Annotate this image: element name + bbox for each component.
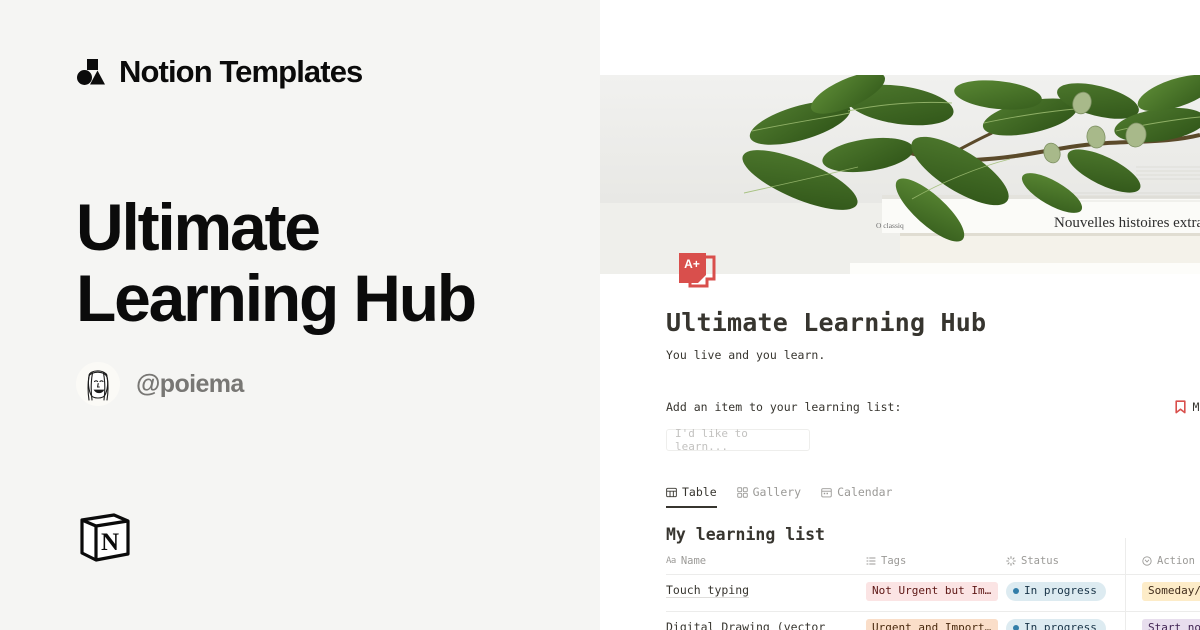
- status-badge-label: In progress: [1024, 621, 1097, 630]
- left-info-panel: Notion Templates Ultimate Learning Hub: [0, 0, 600, 630]
- tab-gallery[interactable]: Gallery: [737, 485, 801, 508]
- bookmark-icon: [1175, 400, 1186, 414]
- cell-name[interactable]: Touch typing: [666, 575, 866, 612]
- cell-tags[interactable]: Not Urgent but Imp…: [866, 575, 1006, 612]
- notion-cube-logo-icon: N: [76, 508, 134, 566]
- select-icon: [1142, 556, 1152, 566]
- svg-text:Nouvelles histoires extra: Nouvelles histoires extra: [1054, 215, 1200, 231]
- table-row[interactable]: Touch typing Not Urgent but Imp… In prog…: [666, 575, 1200, 612]
- page-title-line1: Ultimate: [76, 190, 319, 264]
- cell-status[interactable]: In progress: [1006, 611, 1142, 630]
- my-reading-list-label: My Rea: [1192, 400, 1200, 414]
- learn-input[interactable]: I'd like to learn...: [666, 429, 810, 451]
- column-header-tags-label: Tags: [881, 555, 906, 567]
- tab-gallery-label: Gallery: [753, 485, 801, 499]
- tab-calendar[interactable]: Calendar: [821, 485, 892, 508]
- column-header-status[interactable]: Status: [1006, 555, 1142, 575]
- cell-tags[interactable]: Urgent and Importa…: [866, 611, 1006, 630]
- notion-templates-shapes-logo-icon: [76, 57, 106, 87]
- cell-name-text: Digital Drawing (vector images): [666, 620, 825, 630]
- svg-text:A+: A+: [684, 257, 700, 271]
- column-header-name-label: Name: [681, 555, 706, 567]
- tag-badge: Not Urgent but Imp…: [866, 582, 998, 601]
- table-column-divider: [1125, 538, 1126, 630]
- cell-action[interactable]: Start no: [1142, 611, 1200, 630]
- tab-table-label: Table: [682, 485, 717, 499]
- my-reading-list-link[interactable]: My Rea: [1175, 400, 1200, 414]
- tab-calendar-label: Calendar: [837, 485, 892, 499]
- gallery-icon: [737, 487, 748, 498]
- cell-name[interactable]: Digital Drawing (vector images): [666, 611, 866, 630]
- cell-status[interactable]: In progress: [1006, 575, 1142, 612]
- brand-header[interactable]: Notion Templates: [76, 56, 362, 87]
- tag-badge: Urgent and Importa…: [866, 619, 998, 630]
- action-badge: Start no: [1142, 619, 1200, 630]
- page-title-line2: Learning Hub: [76, 261, 475, 335]
- notion-page-subtitle: You live and you learn.: [666, 348, 1200, 362]
- status-dot-icon: [1013, 588, 1019, 594]
- learning-list-table: Aa Name: [666, 555, 1200, 630]
- calendar-icon: [821, 487, 832, 498]
- notion-page-preview: Nouvelles histoires extra O classiq: [600, 0, 1200, 630]
- add-item-label: Add an item to your learning list:: [666, 400, 901, 414]
- learn-input-placeholder: I'd like to learn...: [675, 427, 801, 453]
- multi-select-icon: [866, 556, 876, 566]
- table-header-row: Aa Name: [666, 555, 1200, 575]
- template-preview-card: Notion Templates Ultimate Learning Hub: [0, 0, 1200, 630]
- notion-page-title: Ultimate Learning Hub: [666, 308, 1200, 337]
- cell-action[interactable]: Someday/: [1142, 575, 1200, 612]
- table-icon: [666, 487, 677, 498]
- column-header-tags[interactable]: Tags: [866, 555, 1006, 575]
- page-title: Ultimate Learning Hub: [76, 192, 546, 335]
- tab-table[interactable]: Table: [666, 485, 717, 508]
- column-header-action-label: Action: [1157, 555, 1195, 567]
- table-row[interactable]: Digital Drawing (vector images) Urgent a…: [666, 611, 1200, 630]
- cover-image: Nouvelles histoires extra O classiq: [600, 75, 1200, 274]
- author-handle: @poiema: [136, 370, 244, 399]
- status-icon: [1006, 556, 1016, 566]
- status-badge-label: In progress: [1024, 584, 1097, 599]
- status-dot-icon: [1013, 625, 1019, 630]
- status-badge: In progress: [1006, 619, 1106, 630]
- column-header-status-label: Status: [1021, 555, 1059, 567]
- database-view-tabs: Table: [666, 485, 1200, 508]
- author-byline[interactable]: @poiema: [76, 362, 244, 406]
- svg-text:O classiq: O classiq: [876, 221, 904, 230]
- notion-document-body: Ultimate Learning Hub You live and you l…: [600, 274, 1200, 630]
- action-badge: Someday/: [1142, 582, 1200, 601]
- status-badge: In progress: [1006, 582, 1106, 601]
- text-aa-icon: Aa: [666, 556, 676, 566]
- cell-name-text: Touch typing: [666, 583, 749, 598]
- column-header-name[interactable]: Aa Name: [666, 555, 866, 575]
- column-header-action[interactable]: Action: [1142, 555, 1200, 575]
- add-item-row: Add an item to your learning list: My Re…: [666, 400, 1200, 414]
- avatar: [76, 362, 120, 406]
- database-title: My learning list: [666, 525, 1200, 544]
- brand-title: Notion Templates: [119, 56, 362, 87]
- svg-text:N: N: [101, 529, 119, 556]
